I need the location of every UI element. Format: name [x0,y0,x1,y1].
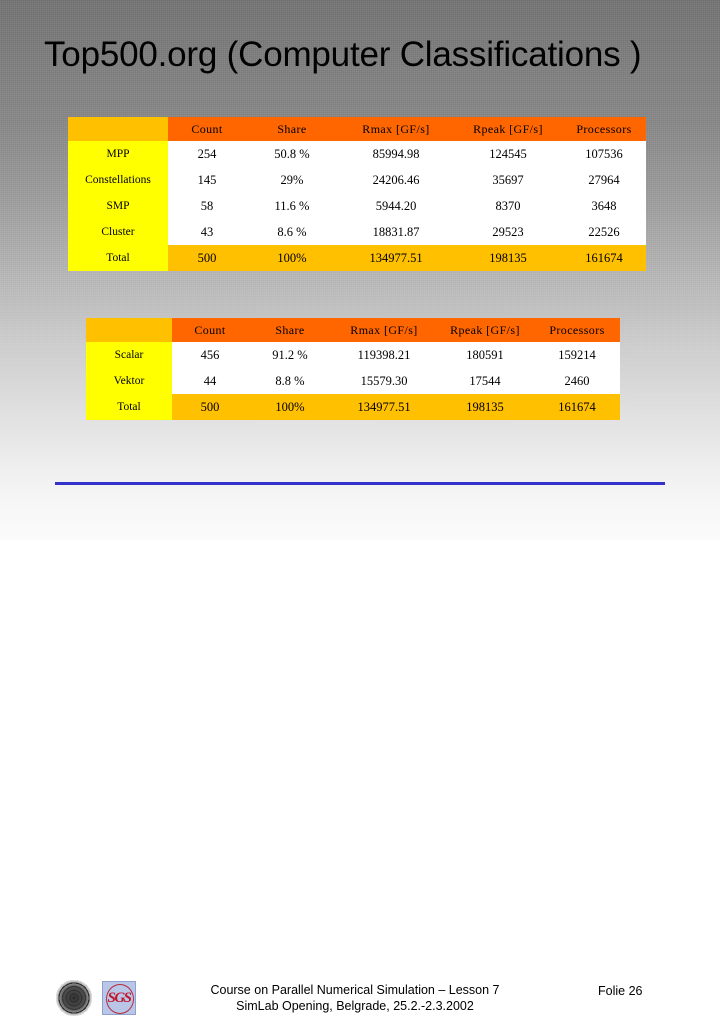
table-cell: 27964 [562,167,646,193]
table-cell: 180591 [436,342,534,368]
row-label: SMP [68,193,168,219]
table-cell: 119398.21 [332,342,436,368]
table-cell: 29523 [454,219,562,245]
row-label: Vektor [86,368,172,394]
dotted-sphere-logo [56,980,92,1016]
slide-number: Folie 26 [598,984,642,998]
table-cell: 8370 [454,193,562,219]
table-cell: 11.6 % [246,193,338,219]
table-corner-cell [86,318,172,342]
table-cell: 134977.51 [332,394,436,420]
table-cell: 18831.87 [338,219,454,245]
logo-group: SGS [56,980,136,1016]
table-cell: 44 [172,368,248,394]
table-cell: 198135 [454,245,562,271]
table-cell: 159214 [534,342,620,368]
table-cell: 100% [246,245,338,271]
architecture-table: CountShareRmax [GF/s]Rpeak [GF/s]Process… [68,117,646,271]
table-cell: 43 [168,219,246,245]
table-cell: 22526 [562,219,646,245]
table-cell: 15579.30 [332,368,436,394]
processor-type-table: CountShareRmax [GF/s]Rpeak [GF/s]Process… [86,318,620,420]
table-header-row: CountShareRmax [GF/s]Rpeak [GF/s]Process… [68,117,646,141]
column-header: Processors [562,117,646,141]
table-cell: 107536 [562,141,646,167]
table-header-row: CountShareRmax [GF/s]Rpeak [GF/s]Process… [86,318,620,342]
table-row: Cluster438.6 %18831.872952322526 [68,219,646,245]
row-label: Total [86,394,172,420]
table-row: Vektor448.8 %15579.30175442460 [86,368,620,394]
table-cell: 456 [172,342,248,368]
table-cell: 134977.51 [338,245,454,271]
table-row: Constellations14529%24206.463569727964 [68,167,646,193]
table-cell: 145 [168,167,246,193]
row-label: Cluster [68,219,168,245]
column-header: Count [168,117,246,141]
table-cell: 500 [172,394,248,420]
column-header: Share [248,318,332,342]
sgs-logo-text: SGS [103,982,135,1014]
table-cell: 29% [246,167,338,193]
row-label: Constellations [68,167,168,193]
table-row: Total500100%134977.51198135161674 [68,245,646,271]
table-cell: 161674 [562,245,646,271]
table-cell: 161674 [534,394,620,420]
column-header: Processors [534,318,620,342]
column-header: Rmax [GF/s] [332,318,436,342]
row-label: MPP [68,141,168,167]
footer-line-2: SimLab Opening, Belgrade, 25.2.-2.3.2002 [160,998,550,1014]
footer-line-1: Course on Parallel Numerical Simulation … [160,982,550,998]
table-cell: 8.6 % [246,219,338,245]
table-cell: 3648 [562,193,646,219]
table-cell: 24206.46 [338,167,454,193]
page-title: Top500.org (Computer Classifications ) [44,31,684,79]
table-cell: 500 [168,245,246,271]
table-cell: 5944.20 [338,193,454,219]
table-cell: 2460 [534,368,620,394]
table-row: Scalar45691.2 %119398.21180591159214 [86,342,620,368]
table-row: SMP5811.6 %5944.2083703648 [68,193,646,219]
table-row: MPP25450.8 %85994.98124545107536 [68,141,646,167]
table-cell: 254 [168,141,246,167]
table-cell: 8.8 % [248,368,332,394]
column-header: Share [246,117,338,141]
table-corner-cell [68,117,168,141]
column-header: Rpeak [GF/s] [436,318,534,342]
row-label: Total [68,245,168,271]
row-label: Scalar [86,342,172,368]
footer-divider [55,482,665,485]
slide-canvas: Top500.org (Computer Classifications ) C… [0,0,720,540]
table-cell: 91.2 % [248,342,332,368]
footer-text: Course on Parallel Numerical Simulation … [160,982,550,1014]
table-row: Total500100%134977.51198135161674 [86,394,620,420]
table-cell: 100% [248,394,332,420]
table-cell: 17544 [436,368,534,394]
table-cell: 35697 [454,167,562,193]
table-cell: 85994.98 [338,141,454,167]
table-cell: 124545 [454,141,562,167]
table-cell: 50.8 % [246,141,338,167]
table-cell: 58 [168,193,246,219]
table-cell: 198135 [436,394,534,420]
sgs-logo: SGS [102,981,136,1015]
column-header: Rpeak [GF/s] [454,117,562,141]
column-header: Rmax [GF/s] [338,117,454,141]
footer: SGS Course on Parallel Numerical Simulat… [0,488,720,538]
column-header: Count [172,318,248,342]
